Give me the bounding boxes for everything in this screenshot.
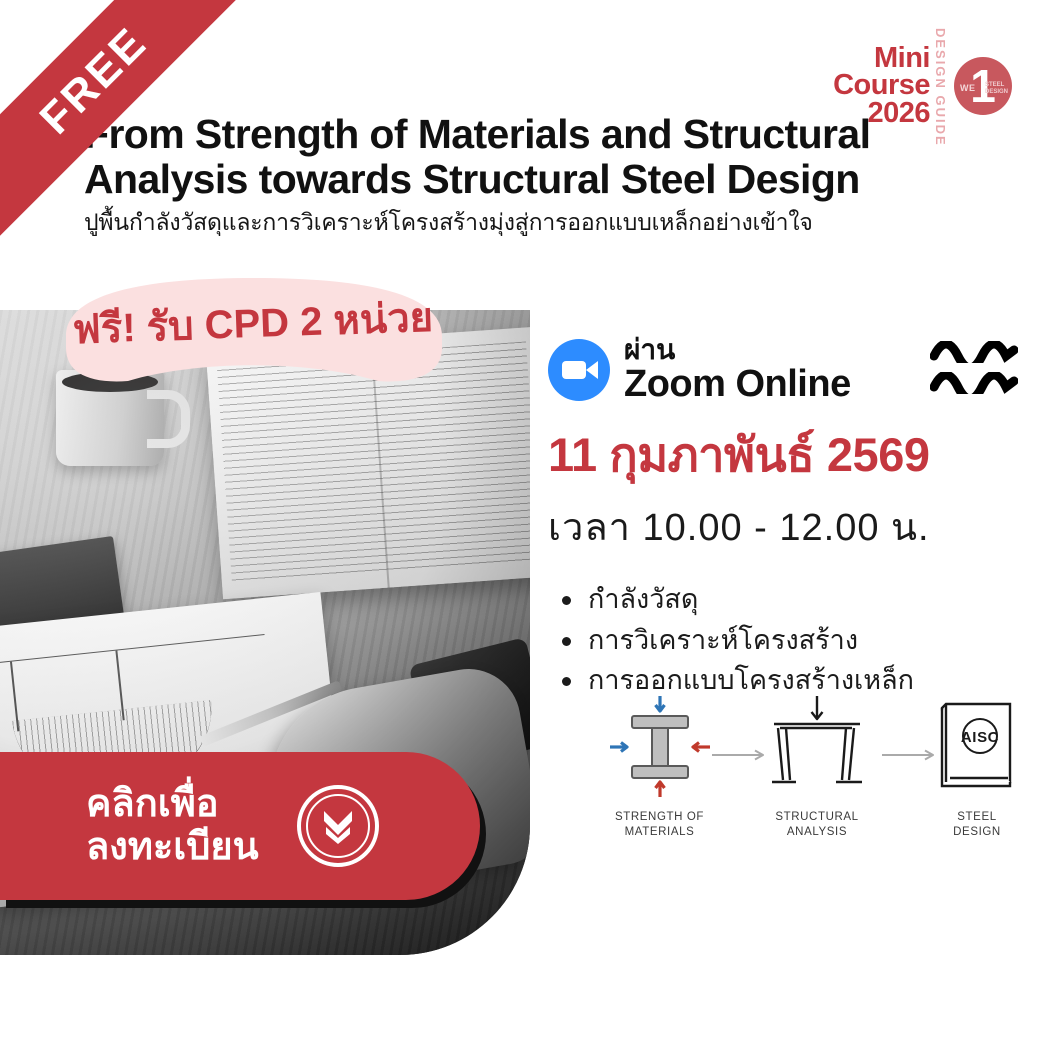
logo-wordmark: Mini Course 2026 bbox=[833, 45, 930, 128]
process-step-3: AISC STEEL DESIGN bbox=[922, 694, 1032, 840]
cta-line-2: ลงทะเบียน bbox=[86, 826, 259, 868]
process-step-3-label: STEEL DESIGN bbox=[922, 810, 1032, 840]
step3-line1: STEEL bbox=[957, 811, 996, 823]
wave-decoration bbox=[930, 341, 1018, 398]
list-item: การวิเคราะห์โครงสร้าง bbox=[548, 620, 1018, 661]
free-ribbon: FREE bbox=[0, 0, 240, 240]
camera-lens-shape bbox=[586, 361, 598, 379]
aisc-book-text: AISC bbox=[961, 729, 999, 746]
platform-prefix: ผ่าน bbox=[624, 336, 851, 365]
brand-logo: Mini Course 2026 DESIGN GUIDE WE 1 STEEL… bbox=[833, 26, 1012, 147]
i-beam-icon bbox=[592, 694, 727, 799]
process-step-1: STRENGTH OF MATERIALS bbox=[592, 694, 727, 840]
info-column: ผ่าน Zoom Online 11 กุมภาพันธ์ 2569 เวลา… bbox=[548, 336, 1018, 701]
free-ribbon-label: FREE bbox=[31, 18, 158, 145]
logo-line-3: 2026 bbox=[833, 100, 930, 128]
register-cta-button[interactable]: คลิกเพื่อ ลงทะเบียน bbox=[0, 752, 480, 900]
camera-body-shape bbox=[562, 361, 586, 379]
cta-label: คลิกเพื่อ ลงทะเบียน bbox=[86, 783, 259, 868]
double-chevron-down-icon[interactable] bbox=[297, 785, 379, 867]
step1-line2: MATERIALS bbox=[625, 826, 695, 838]
process-step-1-label: STRENGTH OF MATERIALS bbox=[592, 810, 727, 840]
cta-line-1: คลิกเพื่อ bbox=[86, 783, 219, 825]
process-step-2: STRUCTURAL ANALYSIS bbox=[752, 694, 882, 840]
logo-line-2: Course bbox=[833, 72, 930, 100]
portal-frame-icon bbox=[752, 694, 882, 799]
aisc-book-icon: AISC bbox=[922, 694, 1032, 799]
step1-line1: STRENGTH OF bbox=[615, 811, 704, 823]
platform-row: ผ่าน Zoom Online bbox=[548, 336, 1018, 403]
cpd-banner: ฟรี! รับ CPD 2 หน่วย bbox=[58, 276, 448, 386]
process-step-2-label: STRUCTURAL ANALYSIS bbox=[752, 810, 882, 840]
topics-list: กำลังวัสดุ การวิเคราะห์โครงสร้าง การออกแ… bbox=[548, 579, 1018, 701]
platform-text: ผ่าน Zoom Online bbox=[624, 336, 851, 403]
we-one-badge-icon: WE 1 STEELDESIGN bbox=[954, 57, 1012, 115]
cpd-banner-label: ฟรี! รับ CPD 2 หน่วย bbox=[56, 269, 450, 393]
platform-name: Zoom Online bbox=[624, 365, 851, 404]
event-date: 11 กุมภาพันธ์ 2569 bbox=[548, 417, 1018, 492]
logo-design-guide-label: DESIGN GUIDE bbox=[933, 26, 948, 147]
free-ribbon-band: FREE bbox=[0, 0, 240, 240]
step3-line2: DESIGN bbox=[953, 826, 1001, 838]
chevron-glyph bbox=[316, 805, 360, 847]
step2-line2: ANALYSIS bbox=[787, 826, 847, 838]
poster-canvas: FREE Mini Course 2026 DESIGN GUIDE WE 1 … bbox=[0, 0, 1040, 1040]
event-time: เวลา 10.00 - 12.00 น. bbox=[548, 496, 1018, 557]
zoom-video-icon bbox=[548, 339, 610, 401]
process-diagram: STRENGTH OF MATERIALS bbox=[592, 694, 1022, 844]
wave-line-icon bbox=[930, 341, 1018, 363]
logo-line-1: Mini bbox=[833, 45, 930, 73]
list-item: กำลังวัสดุ bbox=[548, 579, 1018, 620]
step2-line1: STRUCTURAL bbox=[775, 811, 858, 823]
wave-line-icon-2 bbox=[930, 372, 1018, 394]
badge-steel-label: STEELDESIGN bbox=[985, 82, 1008, 95]
